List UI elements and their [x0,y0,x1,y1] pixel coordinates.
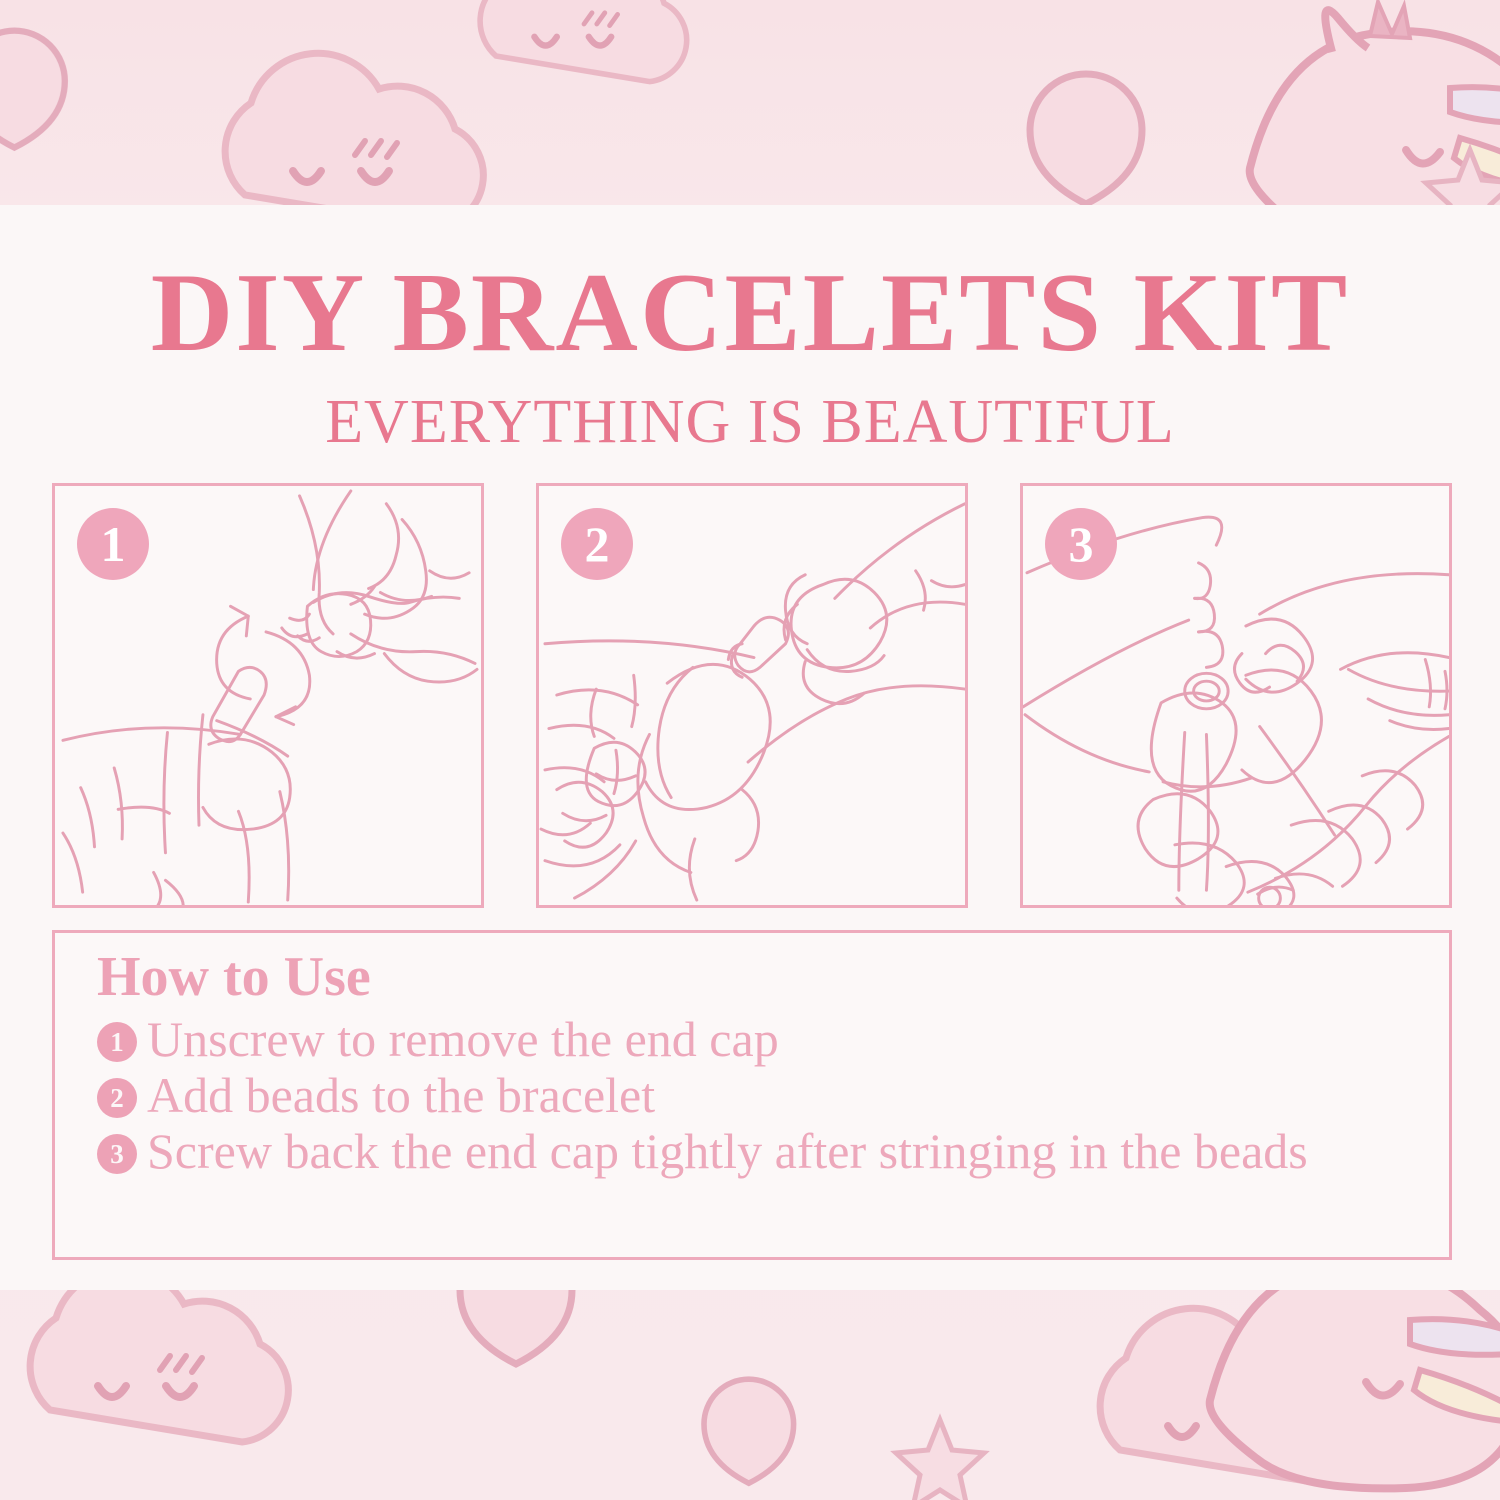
step-number-badge-1: 1 [97,1022,137,1062]
step-text-1: Unscrew to remove the end cap [147,1011,1415,1067]
step-badge-2: 2 [561,508,633,580]
step-panels: 1 [52,483,1452,908]
list-item: 2 Add beads to the bracelet [97,1067,1415,1123]
step-text-2: Add beads to the bracelet [147,1067,1415,1123]
step-badge-3: 3 [1045,508,1117,580]
step-number-badge-3: 3 [97,1134,137,1174]
how-to-use-title: How to Use [97,947,1415,1007]
how-to-use-steps: 1 Unscrew to remove the end cap 2 Add be… [97,1011,1415,1179]
page-title: DIY BRACELETS KIT [0,205,1500,369]
list-item: 3 Screw back the end cap tightly after s… [97,1123,1415,1179]
list-item: 1 Unscrew to remove the end cap [97,1011,1415,1067]
step-panel-2: 2 [536,483,968,908]
step-panel-1: 1 [52,483,484,908]
step-badge-1: 1 [77,508,149,580]
step-panel-3: 3 [1020,483,1452,908]
header-block: DIY BRACELETS KIT EVERYTHING IS BEAUTIFU… [0,205,1500,453]
product-instruction-card: DIY BRACELETS KIT EVERYTHING IS BEAUTIFU… [0,0,1500,1500]
how-to-use-box: How to Use 1 Unscrew to remove the end c… [52,930,1452,1260]
step-number-badge-2: 2 [97,1078,137,1118]
page-subtitle: EVERYTHING IS BEAUTIFUL [0,369,1500,453]
step-text-3: Screw back the end cap tightly after str… [147,1123,1415,1179]
